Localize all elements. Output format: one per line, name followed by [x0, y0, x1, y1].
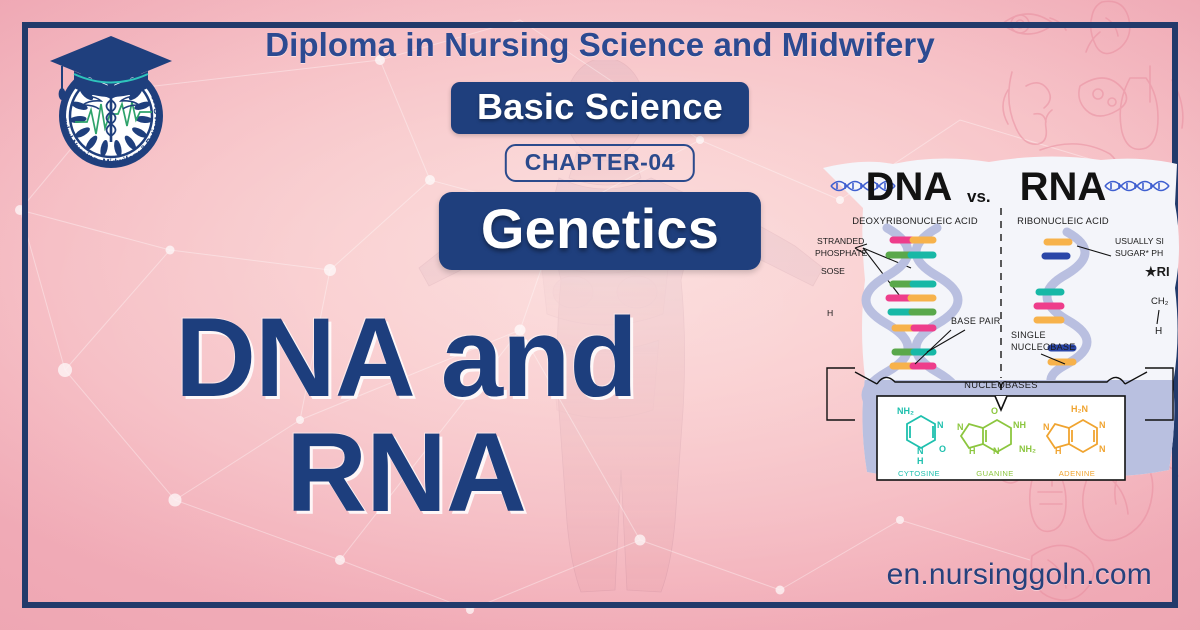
infographic-title-vs: vs. — [967, 187, 991, 206]
molecule-cytosine-n: N — [937, 420, 944, 430]
label-h-right: H — [1155, 326, 1162, 337]
label-sugar-ph: SUGAR* PH — [1115, 248, 1163, 258]
dna-vs-rna-infographic: DNA vs. RNA DEOXYRIBONUCLEIC ACID RIBONU… — [815, 152, 1185, 487]
molecule-guanine-label: GUANINE — [976, 469, 1013, 478]
molecule-cytosine-h: H — [917, 456, 924, 466]
website-url[interactable]: en.nursinggoln.com — [887, 558, 1152, 592]
molecule-adenine-h: H — [1055, 446, 1062, 456]
label-ri: ★RI — [1145, 264, 1170, 279]
chapter-badge: CHAPTER-04 — [505, 144, 695, 182]
molecule-adenine-n2: N — [1099, 444, 1106, 454]
topic-badge: Genetics — [439, 192, 761, 270]
molecule-guanine-h: H — [969, 446, 976, 456]
molecule-guanine-nh: NH — [1013, 420, 1026, 430]
institution-logo: Gurukul Nursing, Midwifery & Patient Car… — [44, 30, 179, 182]
infographic-subtitle-dna: DEOXYRIBONUCLEIC ACID — [852, 215, 978, 226]
course-title: Diploma in Nursing Science and Midwifery — [190, 26, 1010, 64]
thumbnail-canvas: Gurukul Nursing, Midwifery & Patient Car… — [0, 0, 1200, 630]
molecule-guanine-o: O — [991, 406, 998, 416]
molecule-guanine-n2: N — [993, 446, 1000, 456]
label-phosphate: PHOSPHATE — [815, 248, 868, 258]
molecule-adenine-h2n: H₂N — [1071, 404, 1088, 414]
molecule-adenine-n3: N — [1043, 422, 1050, 432]
subject-badge: Basic Science — [451, 82, 749, 134]
label-h-left: H — [827, 308, 833, 318]
label-stranded: STRANDED — [817, 236, 864, 246]
label-sose: SOSE — [821, 266, 845, 276]
page-title-line-2: RNA — [46, 415, 766, 530]
label-ch2: CH₂ — [1151, 296, 1169, 307]
infographic-title-rna: RNA — [1020, 165, 1107, 209]
callout-base-pair: BASE PAIR — [951, 316, 1001, 326]
molecule-cytosine-n2: N — [917, 446, 924, 456]
molecule-cytosine-nh2: NH₂ — [897, 406, 914, 416]
page-title-line-1: DNA and — [175, 295, 637, 420]
callout-single-nucleobase-l1: SINGLE — [1011, 330, 1046, 340]
infographic-subtitle-rna: RIBONUCLEIC ACID — [1017, 215, 1109, 226]
callout-single-nucleobase-l2: NUCLEOBASE — [1011, 342, 1076, 352]
label-usually-si: USUALLY SI — [1115, 236, 1164, 246]
molecule-cytosine-label: CYTOSINE — [898, 469, 940, 478]
molecule-cytosine-o: O — [939, 444, 946, 454]
page-title: DNA and RNA — [46, 300, 766, 531]
molecule-adenine-n1: N — [1099, 420, 1106, 430]
infographic-title-dna: DNA — [866, 165, 953, 209]
molecule-guanine-n1: N — [957, 422, 964, 432]
molecule-adenine-label: ADENINE — [1059, 469, 1096, 478]
molecule-guanine-nh2: NH₂ — [1019, 444, 1036, 454]
